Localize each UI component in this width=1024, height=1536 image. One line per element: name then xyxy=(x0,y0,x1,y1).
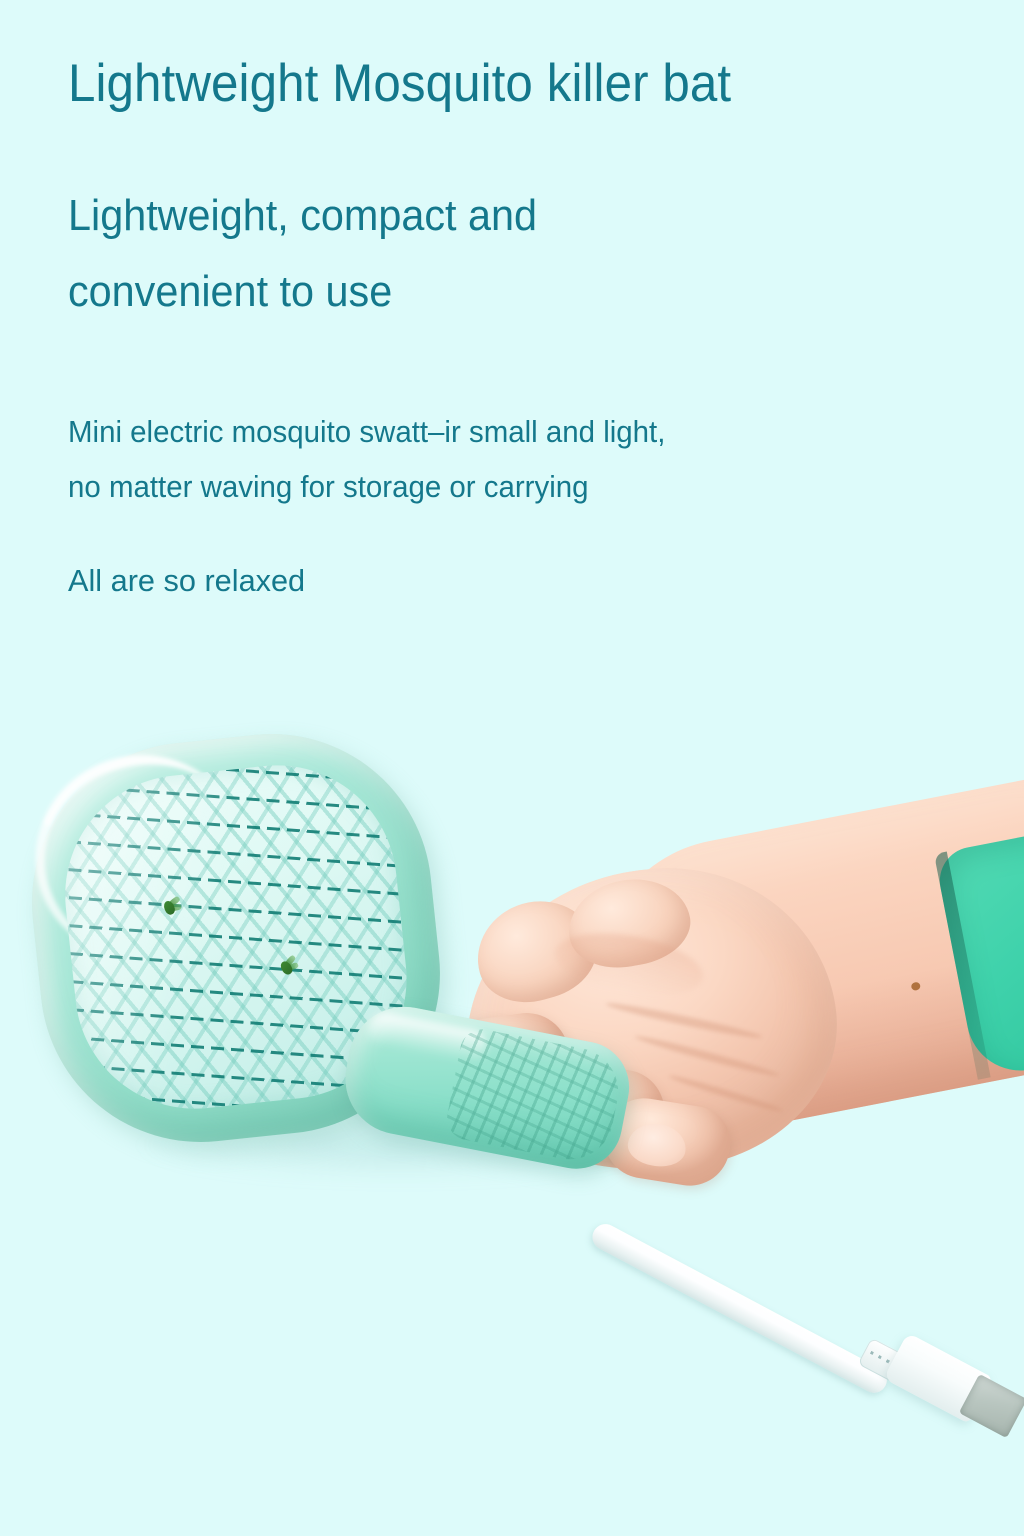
mosquito-icon xyxy=(158,897,180,917)
product-marketing-page: Lightweight Mosquito killer bat Lightwei… xyxy=(0,0,1024,1536)
body-paragraph: Mini electric mosquito swatt–ir small an… xyxy=(68,404,904,514)
cable-cord xyxy=(588,1220,892,1398)
mosquito-icon xyxy=(274,955,299,979)
body-line-3: All are so relaxed xyxy=(68,558,969,605)
handle-grip-texture xyxy=(443,1026,625,1167)
marketing-copy-block: Lightweight Mosquito killer bat Lightwei… xyxy=(68,56,978,604)
page-title: Lightweight Mosquito killer bat xyxy=(68,56,914,112)
usb-charging-cable xyxy=(594,1194,1024,1424)
body-line-1: Mini electric mosquito swatt–ir small an… xyxy=(68,404,904,459)
product-photo xyxy=(0,640,1024,1536)
subheadline: Lightweight, compact and convenient to u… xyxy=(68,178,745,329)
body-line-2: no matter waving for storage or carrying xyxy=(68,459,904,514)
